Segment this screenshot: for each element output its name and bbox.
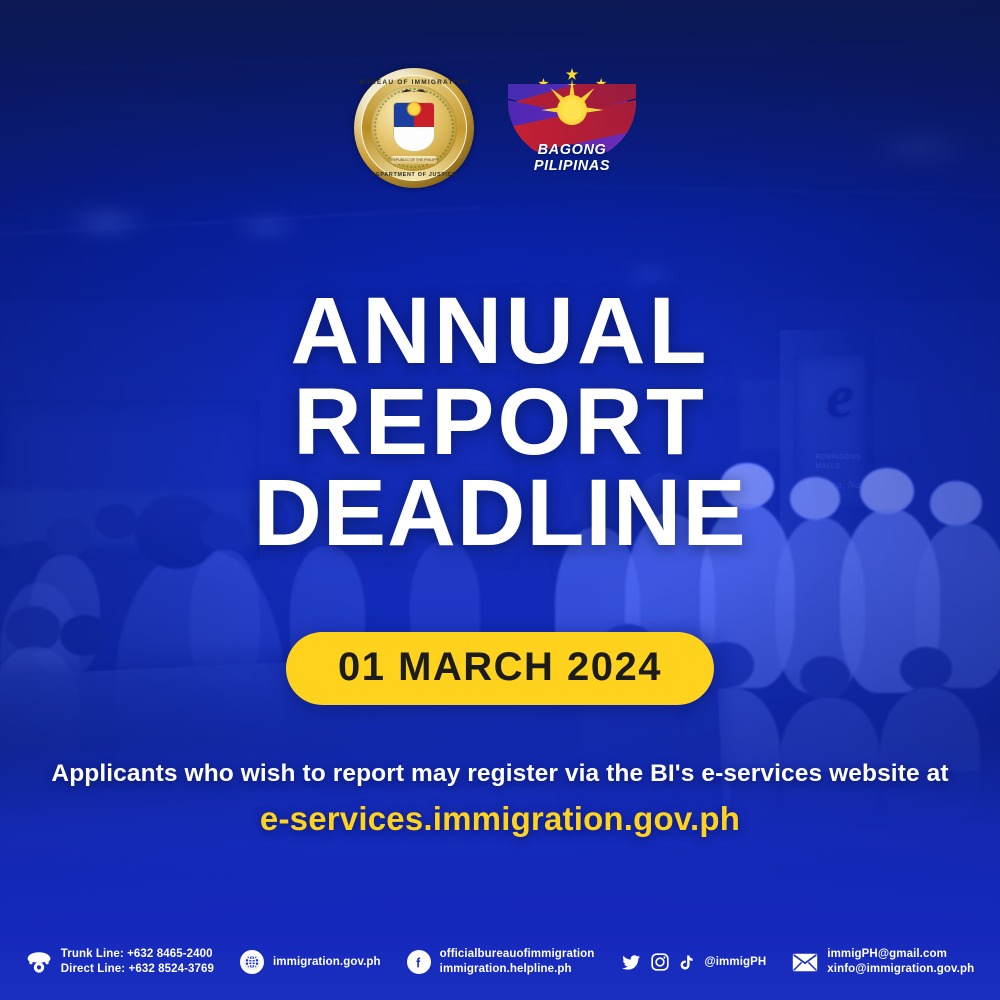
seal-scroll: REPUBLIC OF THE PHILIPPINES [391, 156, 437, 164]
globe-icon [240, 950, 264, 974]
contact-social[interactable]: @immigPH [620, 952, 766, 972]
website-url[interactable]: immigration.gov.ph [273, 955, 381, 971]
email-addresses: immigPH@gmail.com xinfo@immigration.gov.… [827, 947, 974, 978]
contact-website[interactable]: immigration.gov.ph [240, 950, 381, 974]
bagong-pilipinas-label: BAGONG PILIPINAS [498, 142, 646, 174]
contact-facebook[interactable]: officialbureauofimmigration immigration.… [407, 947, 595, 978]
tiktok-icon[interactable] [678, 953, 695, 972]
facebook-page[interactable]: officialbureauofimmigration [440, 948, 595, 960]
subtitle-text: Applicants who wish to report may regist… [0, 760, 1000, 788]
seal-top-text: BUREAU OF IMMIGRATION [354, 79, 474, 86]
trunk-line: Trunk Line: +632 8465-2400 [61, 948, 213, 960]
contact-footer: Trunk Line: +632 8465-2400 Direct Line: … [0, 947, 1000, 978]
bagong-pilipinas-block: BAGONG PILIPINAS [498, 68, 646, 172]
bp-sun-icon [544, 82, 600, 138]
facebook-handles: officialbureauofimmigration immigration.… [440, 947, 595, 978]
facebook-icon [407, 950, 431, 974]
eservices-url[interactable]: e-services.immigration.gov.ph [0, 800, 1000, 838]
envelope-icon [792, 953, 818, 972]
contact-email[interactable]: immigPH@gmail.com xinfo@immigration.gov.… [792, 947, 974, 978]
bi-seal-block: BUREAU OF IMMIGRATION DEPARTMENT OF JUST… [354, 68, 474, 188]
twitter-icon[interactable] [620, 953, 642, 972]
poster-content: BUREAU OF IMMIGRATION DEPARTMENT OF JUST… [0, 0, 1000, 1000]
bagong-pilipinas-logo-icon: BAGONG PILIPINAS [498, 68, 646, 172]
facebook-helpline[interactable]: immigration.helpline.ph [440, 963, 572, 975]
phone-lines: Trunk Line: +632 8465-2400 Direct Line: … [61, 947, 214, 978]
email-gmail[interactable]: immigPH@gmail.com [827, 948, 947, 960]
headline-line-3: DEADLINE [0, 468, 1000, 559]
deadline-date-badge: 01 MARCH 2024 [286, 632, 714, 705]
social-handle[interactable]: @immigPH [704, 955, 766, 971]
direct-line: Direct Line: +632 8524-3769 [61, 963, 214, 975]
headline-line-2: REPORT [0, 377, 1000, 468]
headline-line-1: ANNUAL [0, 286, 1000, 377]
bureau-of-immigration-seal-icon: BUREAU OF IMMIGRATION DEPARTMENT OF JUST… [354, 68, 474, 188]
poster-canvas: e ROBINSONSMALLS Tara, Na! [0, 0, 1000, 1000]
email-official[interactable]: xinfo@immigration.gov.ph [827, 963, 974, 975]
page-title: ANNUAL REPORT DEADLINE [0, 286, 1000, 560]
logo-row: BUREAU OF IMMIGRATION DEPARTMENT OF JUST… [0, 68, 1000, 188]
instagram-icon[interactable] [650, 952, 670, 972]
contact-phone: Trunk Line: +632 8465-2400 Direct Line: … [26, 947, 214, 978]
telephone-icon [26, 951, 52, 973]
seal-sun-icon [408, 102, 421, 115]
seal-bottom-text: DEPARTMENT OF JUSTICE [354, 172, 474, 178]
social-icon-row [620, 952, 695, 972]
